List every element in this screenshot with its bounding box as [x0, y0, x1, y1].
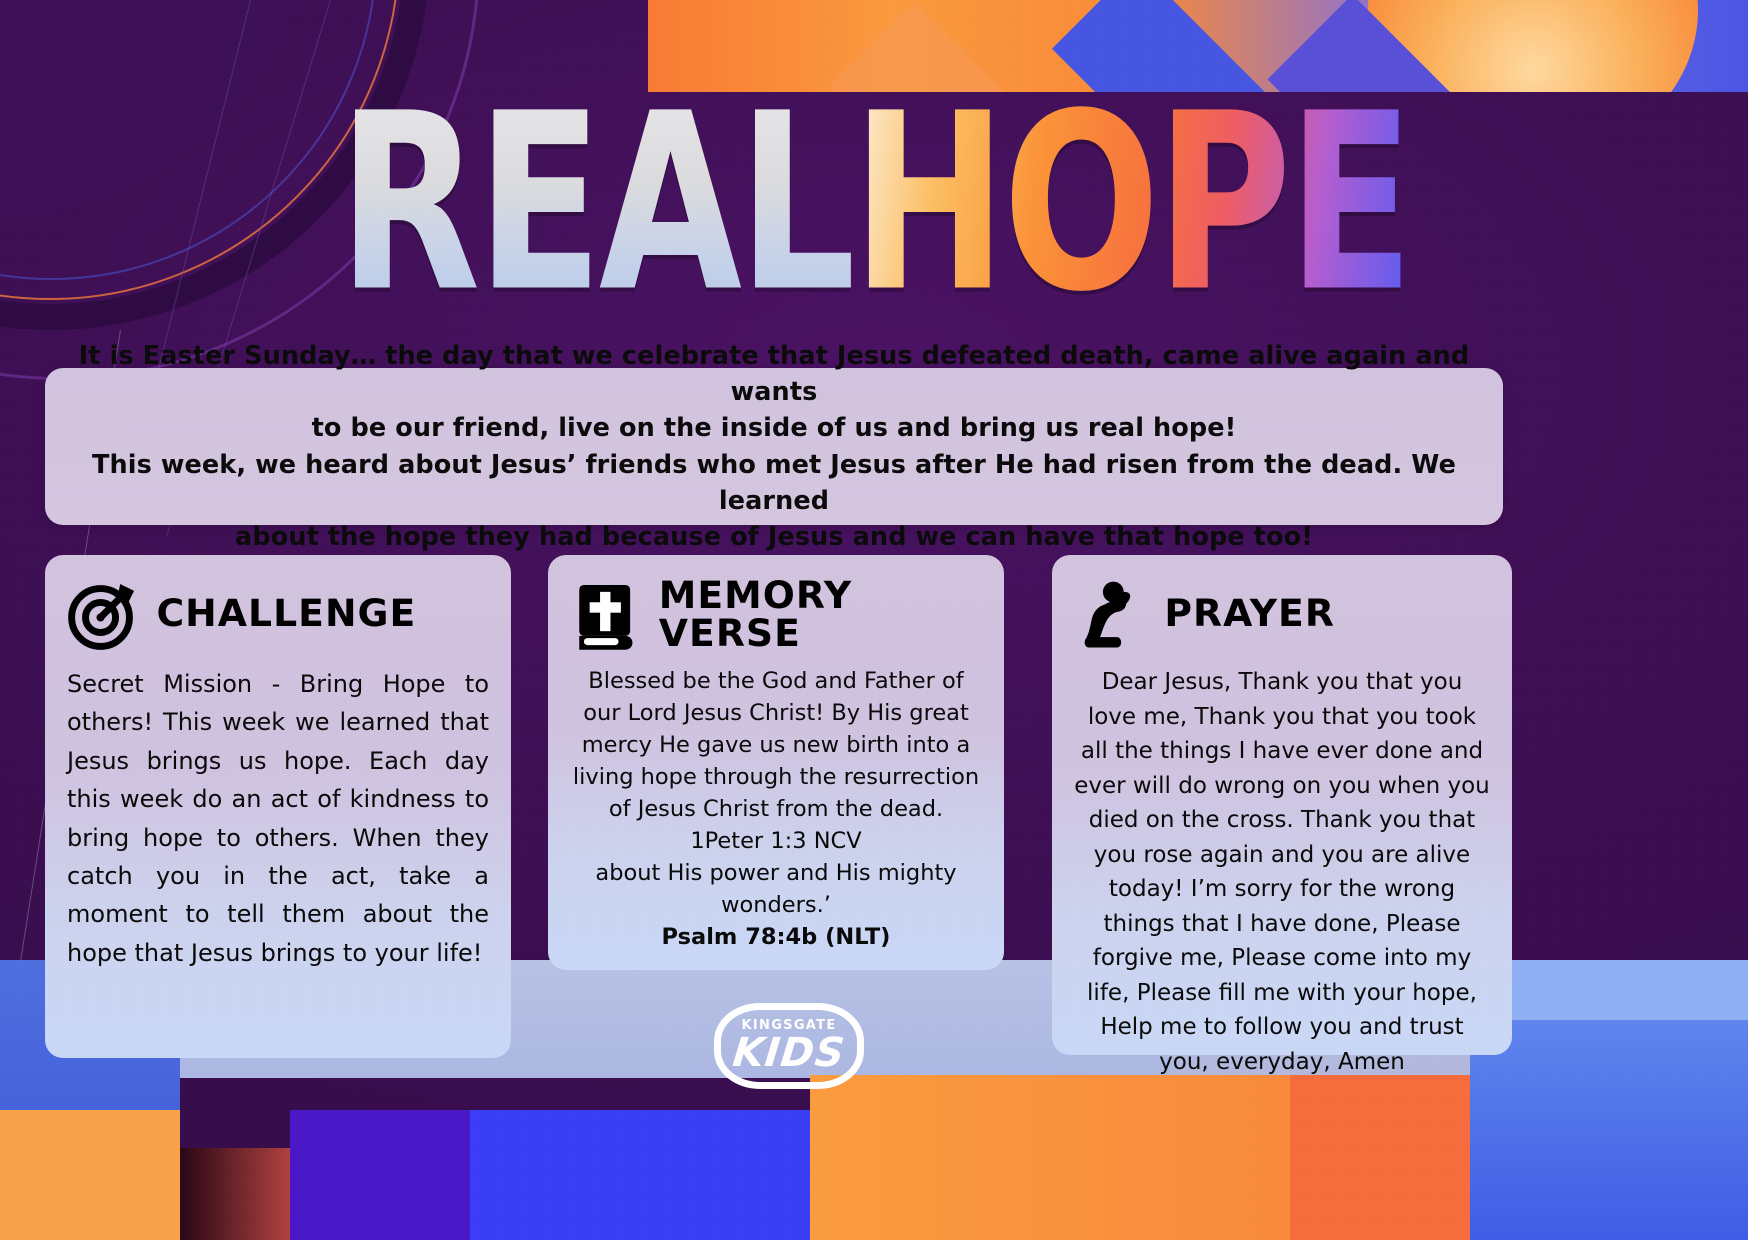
intro-panel: It is Easter Sunday… the day that we cel…: [45, 368, 1503, 525]
memory-verse-reference: 1Peter 1:3 NCV: [570, 826, 982, 858]
challenge-heading: CHALLENGE: [156, 595, 416, 633]
prayer-card-header: PRAYER: [1074, 577, 1490, 651]
background-band-orange-right: [1290, 1075, 1470, 1240]
title-real: REAL: [338, 91, 852, 316]
challenge-card-header: CHALLENGE: [67, 577, 489, 651]
logo-kids-text: KIDS: [731, 1033, 847, 1073]
challenge-card: CHALLENGE Secret Mission - Bring Hope to…: [45, 555, 511, 1058]
prayer-body: Dear Jesus, Thank you that you love me, …: [1074, 665, 1490, 1079]
prayer-heading: PRAYER: [1164, 595, 1335, 633]
target-arrow-icon: [67, 577, 141, 651]
intro-line-2: to be our friend, live on the inside of …: [312, 410, 1237, 446]
memory-verse-text: Blessed be the God and Father of our Lor…: [570, 666, 982, 826]
background-band-blue-mid: [470, 1110, 810, 1240]
page-title: REALHOPE: [0, 96, 1748, 311]
prayer-card: PRAYER Dear Jesus, Thank you that you lo…: [1052, 555, 1512, 1055]
kingsgate-kids-logo: KINGSGATE KIDS: [714, 1000, 864, 1092]
praying-person-icon: [1074, 577, 1148, 651]
intro-line-3: This week, we heard about Jesus’ friends…: [71, 447, 1477, 519]
background-band-violet: [290, 1110, 470, 1240]
memory-verse-card: MEMORY VERSE Blessed be the God and Fath…: [548, 555, 1004, 970]
background-band-blue-right: [1470, 1020, 1748, 1240]
bible-cross-icon: [570, 578, 644, 652]
intro-line-4: about the hope they had because of Jesus…: [235, 519, 1313, 555]
poster-canvas: REALHOPE It is Easter Sunday… the day th…: [0, 0, 1748, 1240]
logo-blob-outline: KINGSGATE KIDS: [714, 1003, 864, 1089]
challenge-body: Secret Mission - Bring Hope to others! T…: [67, 665, 489, 972]
background-band-dark-red: [180, 1148, 290, 1240]
intro-line-1: It is Easter Sunday… the day that we cel…: [71, 338, 1477, 410]
title-hope: HOPE: [852, 91, 1410, 316]
memory-verse-text-2: about His power and His mighty wonders.’: [570, 858, 982, 922]
background-band-orange-left: [0, 1110, 180, 1240]
memory-verse-card-header: MEMORY VERSE: [570, 577, 982, 652]
memory-verse-heading: MEMORY VERSE: [659, 577, 985, 652]
background-band-orange-mid: [810, 1075, 1290, 1240]
memory-verse-reference-2: Psalm 78:4b (NLT): [570, 922, 982, 954]
